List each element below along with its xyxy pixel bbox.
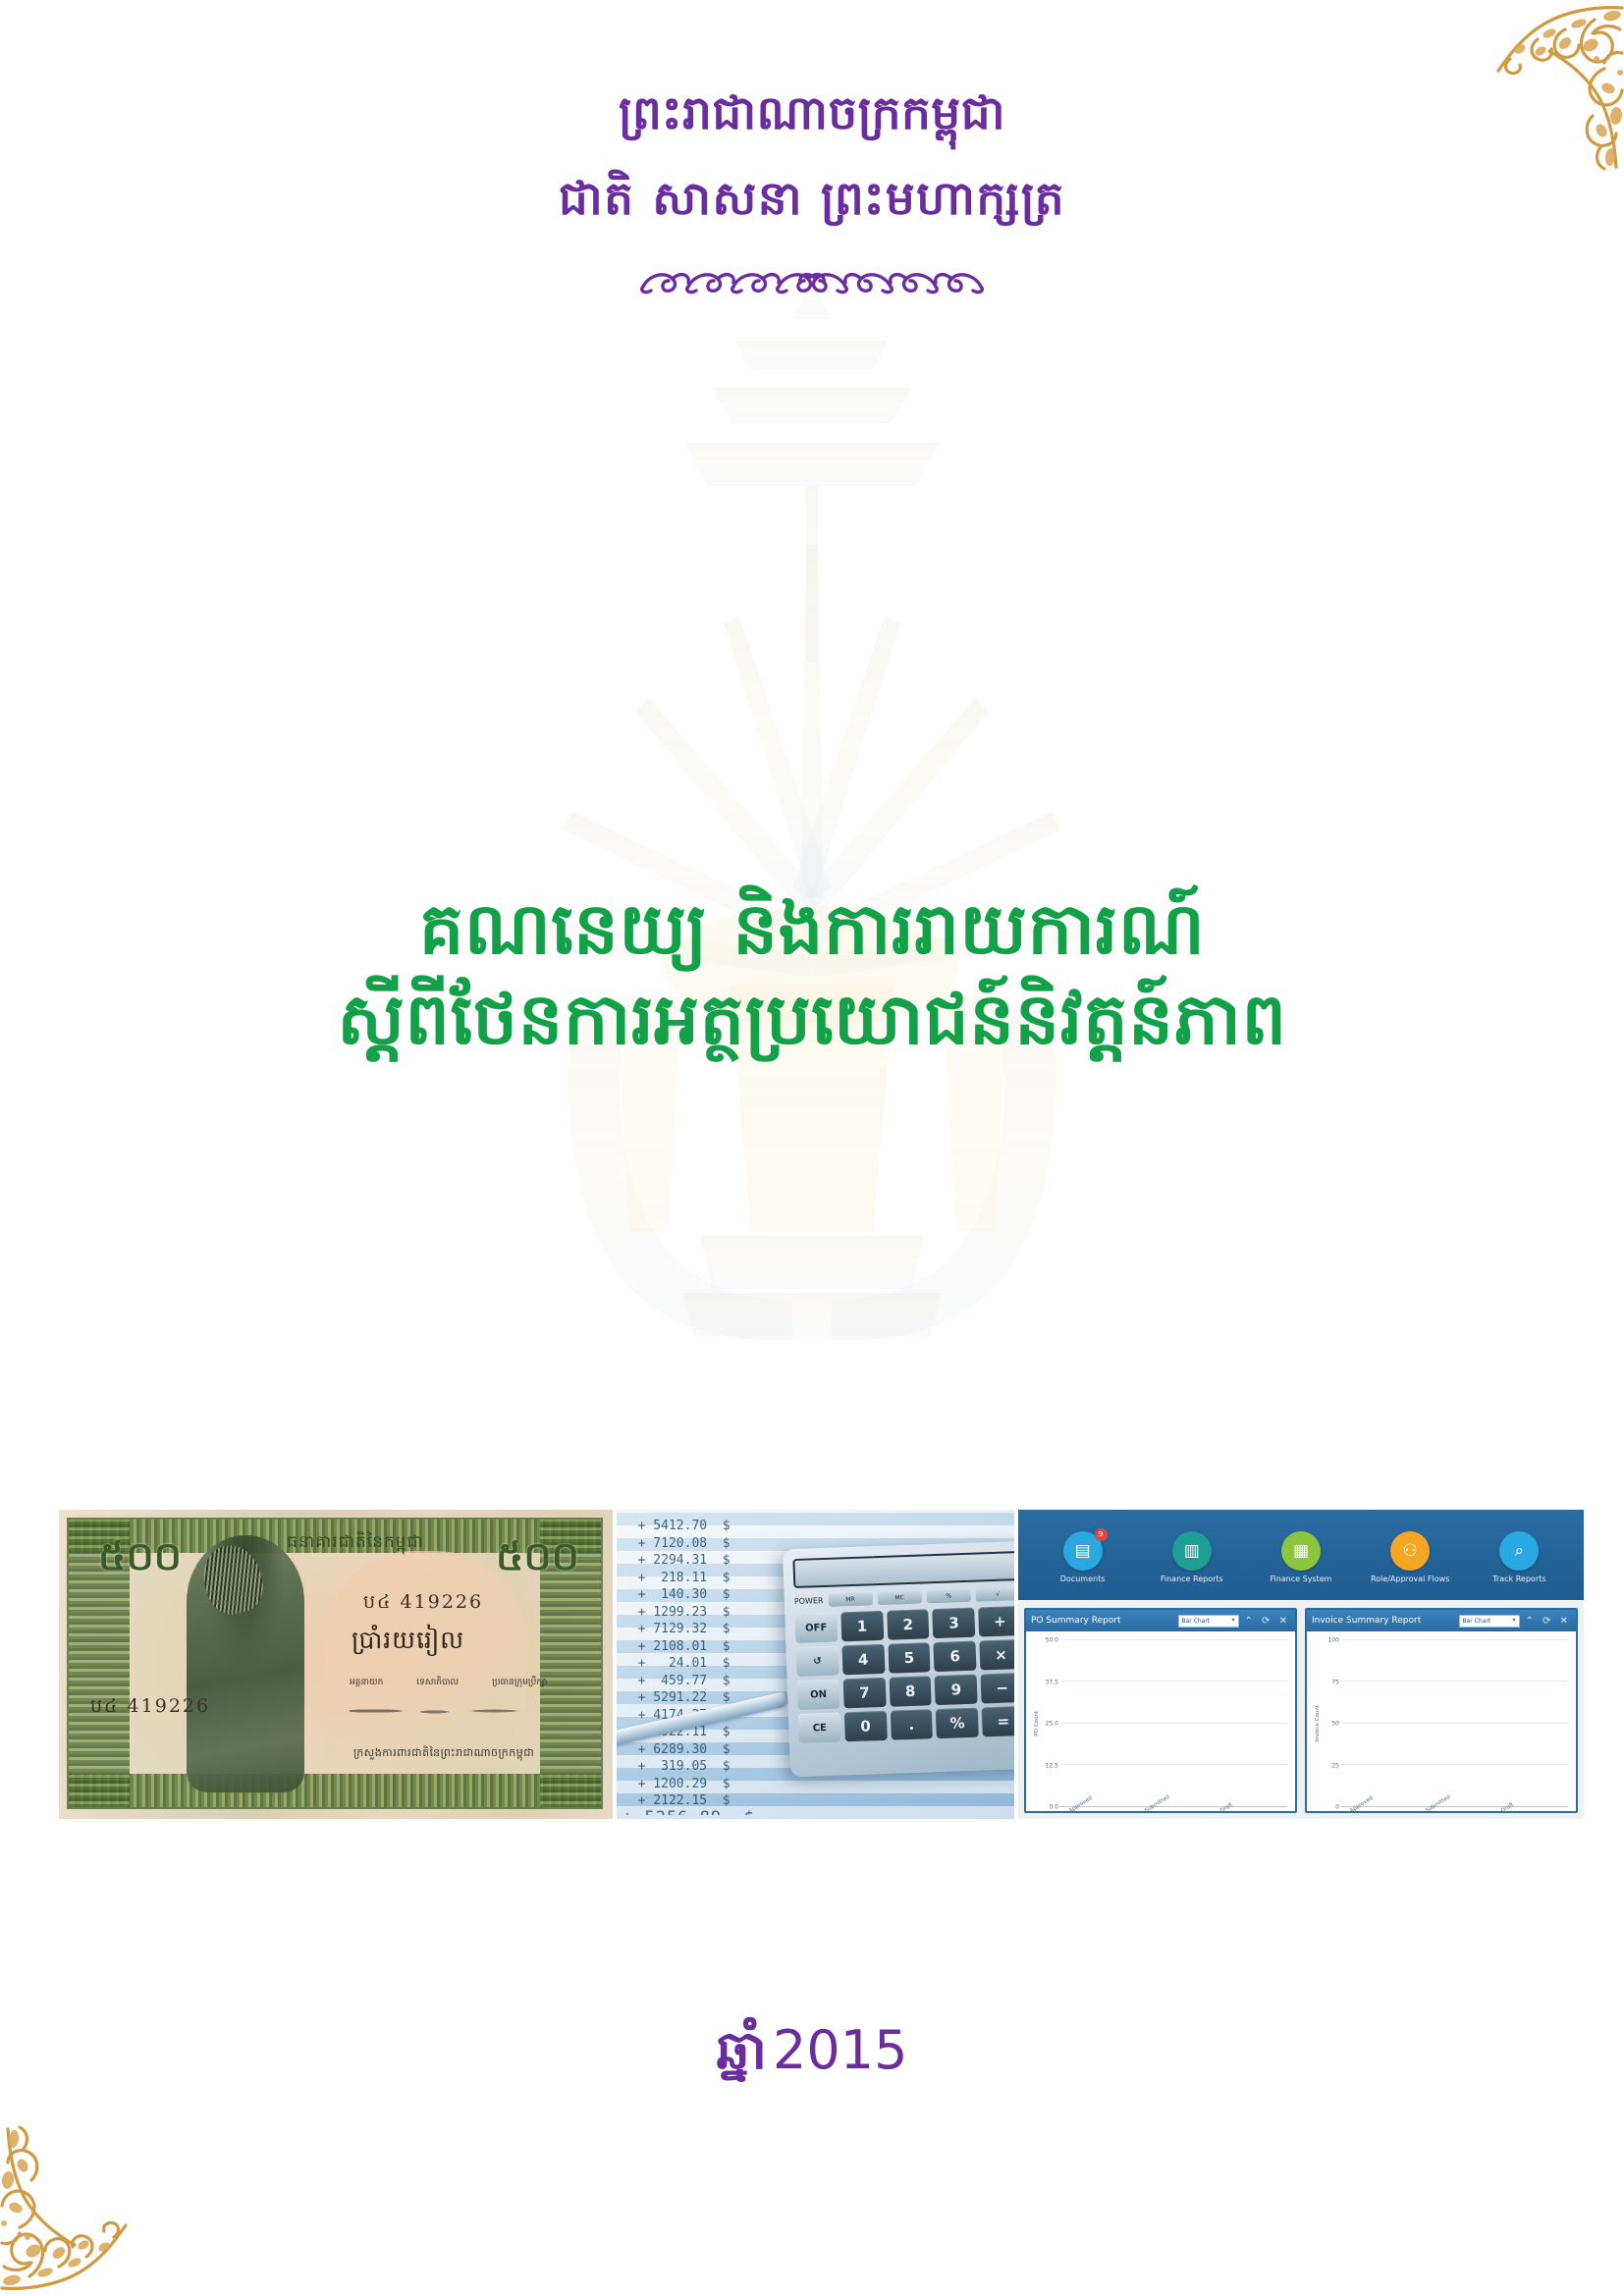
document-cover-page: ព្រះរាជាណាចក្រកម្ពុជា ជាតិ សាសនា ព្រះមហា… (0, 0, 1624, 2296)
signature-title-2: ទេសាភិបាល (416, 1677, 459, 1689)
dashboard-tile-label: Finance Reports (1150, 1575, 1234, 1584)
banknote-serial-top: ប៤ 419226 (363, 1590, 483, 1618)
kingdom-of-cambodia-line: ព្រះរាជាណាចក្រកម្ពុជា (0, 79, 1624, 150)
corner-ornament-bottom-left (0, 2124, 177, 2296)
chart-y-tick: 25 (1331, 1762, 1339, 1769)
chart-plot-area: 934070ApprovedSubmittedDraft (1341, 1640, 1568, 1807)
report-panel-title: Invoice Summary Report (1312, 1616, 1453, 1626)
panel-window-controls[interactable]: ⌃ ⟳ ✕ (1245, 1616, 1291, 1627)
dashboard-tile-1[interactable]: ▥Finance Reports (1150, 1531, 1234, 1584)
chart-x-tick-labels: ApprovedSubmittedDraft (1060, 1806, 1287, 1813)
dashboard-report-panels: PO Summary ReportBar Chart⌃ ⟳ ✕PO Count0… (1024, 1608, 1578, 1813)
dashboard-tile-label: Finance System (1259, 1575, 1343, 1584)
calculator-key-[interactable]: = (982, 1706, 1014, 1736)
calculator-key-ce[interactable]: CE (798, 1712, 841, 1742)
calculator-keypad: OFF123+↺456×ON789−CE0.%= (794, 1606, 1014, 1743)
report-panel-body: PO Count0.012.525.037.550.0472418Approve… (1026, 1631, 1295, 1811)
dashboard-tile-bar: ▤9Documents▥Finance Reports▦Finance Syst… (1018, 1510, 1584, 1600)
banknote-issuer-text: ធនាគារជាតិនៃកម្ពុជា (287, 1531, 424, 1556)
chart-y-tick: 75 (1331, 1679, 1339, 1685)
banknote-signatures (350, 1702, 526, 1720)
calculator-key-4[interactable]: 4 (841, 1644, 885, 1675)
bar-chart-icon: ▥ (1172, 1531, 1212, 1571)
dashboard-tile-3[interactable]: ⚇Role/Approval Flows (1368, 1531, 1452, 1584)
chart-plot-area: 472418ApprovedSubmittedDraft (1060, 1640, 1287, 1807)
calculator-display (792, 1551, 1014, 1588)
title-line-2: ស្ដីពីថែនការអត្ថប្រយោជន៍និវត្តន៍ភាព (0, 974, 1624, 1064)
chart-y-tick: 12.5 (1046, 1762, 1058, 1769)
banknote-bottom-border (69, 1774, 601, 1807)
chart-y-tick: 50.0 (1046, 1637, 1058, 1644)
dashboard-tile-badge: 9 (1095, 1528, 1108, 1541)
report-panel-header: PO Summary ReportBar Chart⌃ ⟳ ✕ (1026, 1610, 1295, 1631)
report-panel-header: Invoice Summary ReportBar Chart⌃ ⟳ ✕ (1307, 1610, 1576, 1631)
dashboard-tile-0[interactable]: ▤9Documents (1041, 1531, 1125, 1584)
chart-bars: 934070 (1341, 1640, 1568, 1806)
calculator-key-0[interactable]: 0 (844, 1711, 888, 1741)
calculator-key-3[interactable]: 3 (933, 1608, 976, 1638)
chart-y-tick: 100 (1328, 1637, 1339, 1644)
banknote-statue-engraving (187, 1535, 304, 1792)
chart-y-tick: 37.5 (1046, 1679, 1058, 1685)
dashboard-tile-2[interactable]: ▦Finance System (1259, 1531, 1343, 1584)
calculator-key-1[interactable]: 1 (840, 1611, 884, 1641)
banknote-denomination-right: ៥០០ (496, 1531, 579, 1589)
chart-type-select[interactable]: Bar Chart (1178, 1615, 1239, 1628)
calculator-key-6[interactable]: 6 (934, 1641, 977, 1672)
calculator-brand: POWER (794, 1596, 824, 1606)
chart-y-axis-label: Invoice Count (1315, 1705, 1321, 1742)
year-value: 2015 (773, 2019, 907, 2081)
year-label: ឆ្នាំ (717, 2019, 768, 2081)
calculator-key-[interactable]: − (981, 1673, 1014, 1703)
calculator-key-[interactable]: % (936, 1708, 979, 1738)
calculator-key-7[interactable]: 7 (842, 1678, 886, 1708)
chart-y-tick: 50 (1331, 1721, 1339, 1728)
calculator-photo: + 5412.70 $ + 7120.08 $ + 2294.31 $ + 21… (617, 1510, 1014, 1819)
dashboard-tile-4[interactable]: ⌕Track Reports (1477, 1531, 1561, 1584)
flow-icon: ⚇ (1390, 1531, 1430, 1571)
publication-year: ឆ្នាំ 2015 (0, 2017, 1624, 2095)
calculator-key-5[interactable]: 5 (888, 1642, 931, 1673)
calculator-minikey-root: √ (975, 1587, 1014, 1602)
panel-window-controls[interactable]: ⌃ ⟳ ✕ (1526, 1616, 1572, 1627)
chart-y-tick: 25.0 (1046, 1721, 1058, 1728)
cover-photo-strip: ៥០០ ៥០០ ធនាគារជាតិនៃកម្ពុជា ប៤ 419226 ប៤… (59, 1510, 1584, 1819)
calculator-key-off[interactable]: OFF (794, 1613, 838, 1643)
calculator-device: POWER MR MC % √ OFF123+↺456×ON789−CE0.%= (783, 1541, 1014, 1778)
chart-y-ticks: 0255075100 (1323, 1640, 1341, 1807)
calculator-key-9[interactable]: 9 (935, 1675, 978, 1705)
dashboard-photo: ▤9Documents▥Finance Reports▦Finance Syst… (1018, 1510, 1584, 1819)
dashboard-tile-label: Role/Approval Flows (1368, 1575, 1452, 1584)
calculator-key-2[interactable]: 2 (887, 1609, 930, 1639)
calculator-key-[interactable]: + (978, 1606, 1014, 1636)
magnifier-icon: ⌕ (1499, 1531, 1539, 1571)
chart-y-tick: 0 (1335, 1804, 1339, 1811)
chart-x-tick-labels: ApprovedSubmittedDraft (1341, 1806, 1568, 1813)
document-header: ព្រះរាជាណាចក្រកម្ពុជា ជាតិ សាសនា ព្រះមហា… (0, 79, 1624, 298)
chart-y-ticks: 0.012.525.037.550.0 (1042, 1640, 1060, 1807)
chart-bars: 472418 (1060, 1640, 1287, 1806)
report-panel-body: Invoice Count0255075100934070ApprovedSub… (1307, 1631, 1576, 1811)
calculator-key-8[interactable]: 8 (889, 1676, 932, 1706)
signature-title-3: ប្រធានក្រុមប្រឹក្សា (492, 1677, 547, 1689)
national-motto-line: ជាតិ សាសនា ព្រះមហាក្សត្រ (0, 164, 1624, 236)
title-line-1: គណនេយ្យ និងការរាយការណ៍ (0, 883, 1624, 974)
dashboard-tile-label: Track Reports (1477, 1575, 1561, 1584)
page-title: គណនេយ្យ និងការរាយការណ៍ ស្ដីពីថែនការអត្ថប… (0, 883, 1624, 1064)
banknote-serial-bottom: ប៤ 419226 (90, 1694, 210, 1722)
report-panel-title: PO Summary Report (1031, 1616, 1172, 1626)
calculator-minikey-mr: MR (828, 1592, 873, 1607)
khmer-divider-ornament-icon (635, 253, 989, 298)
report-panel-1: Invoice Summary ReportBar Chart⌃ ⟳ ✕Invo… (1305, 1608, 1578, 1813)
monitor-icon: ▦ (1281, 1531, 1321, 1571)
banknote-signature-titles: អគ្គនាយក ទេសាភិបាល ប្រធានក្រុមប្រឹក្សា (350, 1677, 547, 1689)
dashboard-tile-label: Documents (1041, 1575, 1125, 1584)
banknote-footer-text: ក្រសួងការពារជាតិនៃព្រះរាជាណាចក្រកម្ពុជា (353, 1746, 534, 1762)
calculator-key-on[interactable]: ON (797, 1680, 840, 1710)
calculator-key-[interactable]: . (890, 1709, 933, 1739)
report-panel-0: PO Summary ReportBar Chart⌃ ⟳ ✕PO Count0… (1024, 1608, 1297, 1813)
banknote-photo: ៥០០ ៥០០ ធនាគារជាតិនៃកម្ពុជា ប៤ 419226 ប៤… (59, 1510, 613, 1819)
chart-type-select[interactable]: Bar Chart (1459, 1615, 1520, 1628)
bar-chart: PO Count0.012.525.037.550.0472418Approve… (1034, 1640, 1287, 1807)
calculator-minikey-percent: % (926, 1589, 971, 1604)
calculator-minikey-mc: MC (877, 1591, 922, 1606)
signature-title-1: អគ្គនាយក (350, 1677, 383, 1689)
bar-chart: Invoice Count0255075100934070ApprovedSub… (1315, 1640, 1568, 1807)
calculator-key-[interactable]: × (980, 1639, 1014, 1670)
chart-y-tick: 0.0 (1049, 1804, 1058, 1811)
calculator-key-[interactable]: ↺ (796, 1646, 839, 1677)
banknote-value-words: ប្រាំរយរៀល (352, 1626, 464, 1661)
banknote-denomination-left: ៥០០ (98, 1531, 182, 1589)
chart-y-axis-label: PO Count (1034, 1711, 1040, 1736)
